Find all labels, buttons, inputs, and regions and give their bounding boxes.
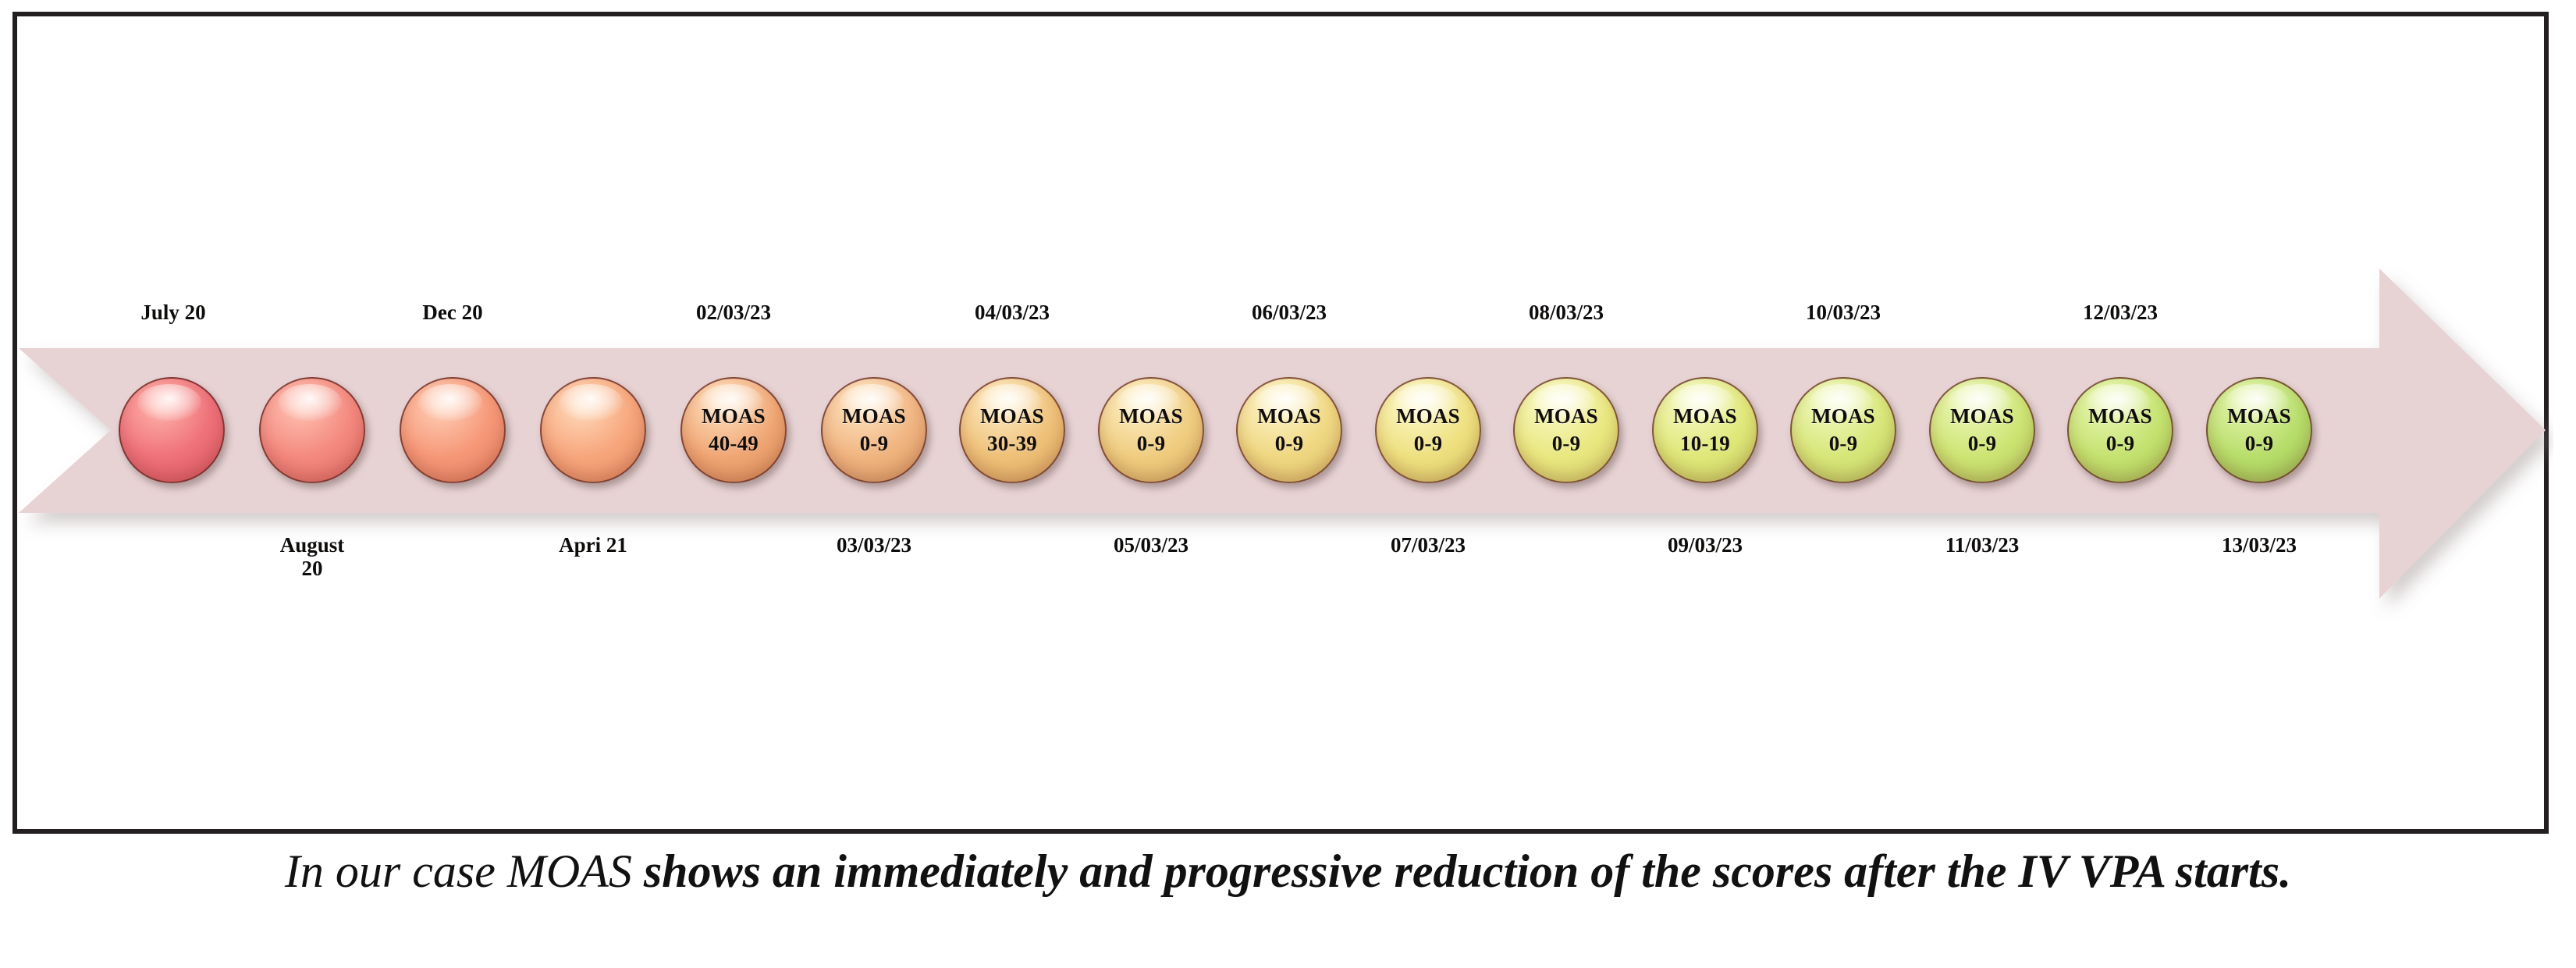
node-label: MOAS [1673,406,1737,427]
node-value: 0-9 [1829,433,1858,454]
timeline-node-3[interactable] [400,377,506,483]
timeline-node-1[interactable] [119,377,225,483]
date-label-10: 07/03/23 [1319,533,1537,557]
node-label: MOAS [2227,406,2291,427]
date-label-8: 05/03/23 [1042,533,1260,557]
date-label-9: 06/03/23 [1180,301,1398,324]
node-label: MOAS [1257,406,1321,427]
node-value: 0-9 [1275,433,1304,454]
node-value: 30-39 [987,433,1037,454]
node-label: MOAS [1950,406,2014,427]
node-label: MOAS [1811,406,1875,427]
date-label-3: Dec 20 [343,301,562,324]
timeline-node-4[interactable] [540,377,646,483]
timeline-node-6[interactable]: MOAS 0-9 [821,377,927,483]
node-value: 0-9 [2245,433,2274,454]
timeline-node-16[interactable]: MOAS 0-9 [2206,377,2312,483]
date-label-16: 13/03/23 [2150,533,2368,557]
timeline-node-14[interactable]: MOAS 0-9 [1929,377,2035,483]
node-value: 10-19 [1680,433,1730,454]
date-label-6: 03/03/23 [765,533,983,557]
timeline-diagram: July 20 August 20 Dec 20 Apri 21 MOAS 40… [17,16,2553,838]
timeline-node-10[interactable]: MOAS 0-9 [1375,377,1481,483]
date-label-1: July 20 [64,301,282,324]
timeline-node-2[interactable] [259,377,365,483]
date-label-4: Apri 21 [484,533,702,557]
caption-emphasis-text: shows an immediately and progressive red… [644,845,2291,897]
timeline-node-15[interactable]: MOAS 0-9 [2067,377,2173,483]
node-label: MOAS [1534,406,1598,427]
timeline-node-12[interactable]: MOAS 10-19 [1652,377,1758,483]
date-label-15: 12/03/23 [2011,301,2230,324]
timeline-node-8[interactable]: MOAS 0-9 [1098,377,1204,483]
date-label-11: 08/03/23 [1457,301,1675,324]
timeline-node-13[interactable]: MOAS 0-9 [1790,377,1896,483]
node-label: MOAS [2088,406,2152,427]
date-label-2: August 20 [203,533,421,580]
node-value: 0-9 [2106,433,2135,454]
timeline-node-9[interactable]: MOAS 0-9 [1236,377,1342,483]
date-label-13: 10/03/23 [1734,301,1952,324]
node-value: 0-9 [1414,433,1443,454]
date-label-5: 02/03/23 [624,301,843,324]
figure-caption: In our case MOAS shows an immediately an… [0,845,2576,899]
node-label: MOAS [980,406,1044,427]
node-value: 0-9 [1137,433,1166,454]
timeline-node-7[interactable]: MOAS 30-39 [959,377,1065,483]
node-label: MOAS [702,406,766,427]
node-value: 0-9 [1552,433,1581,454]
date-label-7: 04/03/23 [903,301,1121,324]
node-label: MOAS [842,406,906,427]
node-label: MOAS [1396,406,1460,427]
figure-frame: July 20 August 20 Dec 20 Apri 21 MOAS 40… [12,12,2549,834]
caption-lead-text: In our case MOAS [285,845,644,897]
node-value: 0-9 [860,433,889,454]
date-label-12: 09/03/23 [1596,533,1814,557]
timeline-node-5[interactable]: MOAS 40-49 [680,377,787,483]
timeline-node-11[interactable]: MOAS 0-9 [1513,377,1619,483]
node-label: MOAS [1119,406,1183,427]
node-value: 0-9 [1968,433,1997,454]
date-label-14: 11/03/23 [1873,533,2091,557]
node-value: 40-49 [709,433,759,454]
